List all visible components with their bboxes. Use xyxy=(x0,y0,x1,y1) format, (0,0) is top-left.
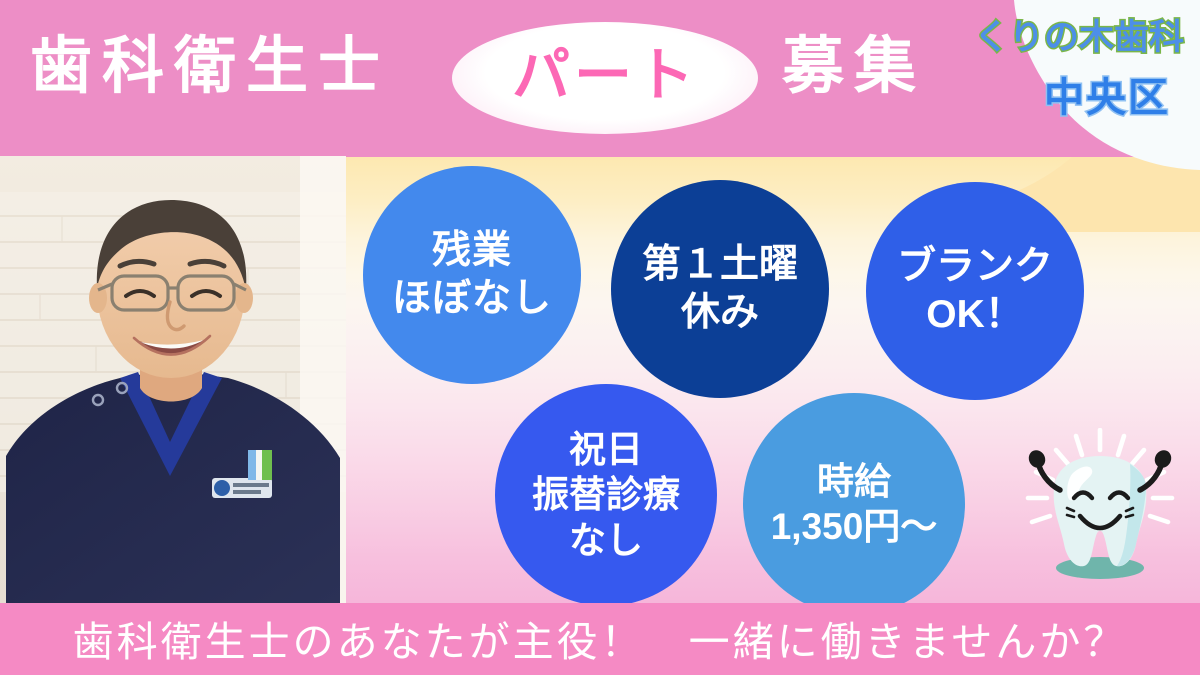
badge-line: 休み xyxy=(642,289,798,337)
employment-type-badge: パート xyxy=(452,22,758,134)
recruitment-banner: 歯科衛生士 パート 募集 くりの木歯科 中央区 xyxy=(0,0,1200,675)
mascot-shadow xyxy=(1056,557,1144,579)
badge-saturday-off: 第１土曜 休み xyxy=(611,180,829,398)
page-title: 歯科衛生士 xyxy=(30,36,390,98)
clinic-ward: 中央区 xyxy=(1044,78,1170,118)
footer-bar: 歯科衛生士のあなたが主役！ 一緒に働きませんか？ xyxy=(0,603,1200,675)
badge-line: ほぼなし xyxy=(392,275,552,323)
clinic-name: くりの木歯科 xyxy=(974,20,1184,55)
left-hand xyxy=(1026,447,1049,470)
employment-type-label: パート xyxy=(512,47,698,105)
happy-tooth-icon xyxy=(1012,428,1188,588)
badge-line: なし xyxy=(532,518,680,563)
badge-hourly-wage: 時給 1,350円〜 xyxy=(743,393,965,615)
badge-overtime: 残業 ほぼなし xyxy=(363,166,581,384)
badge-line: 祝日 xyxy=(532,427,680,472)
dentist-photo xyxy=(0,156,346,603)
badge-line: 1,350円〜 xyxy=(771,504,938,549)
title-suffix: 募集 xyxy=(782,36,926,98)
badge-line: 第１土曜 xyxy=(642,241,798,289)
badge-holiday-no-makeup: 祝日 振替診療 なし xyxy=(495,384,717,606)
badge-line: ブランク xyxy=(897,243,1053,291)
badge-line: 時給 xyxy=(771,459,938,504)
badge-line: 残業 xyxy=(392,227,552,275)
badge-line: 振替診療 xyxy=(532,472,680,517)
footer-message: 歯科衛生士のあなたが主役！ 一緒に働きませんか？ xyxy=(0,608,1200,668)
badge-blank-ok: ブランク OK！ xyxy=(866,182,1084,400)
right-hand xyxy=(1152,447,1175,470)
badge-line: OK！ xyxy=(897,291,1053,339)
